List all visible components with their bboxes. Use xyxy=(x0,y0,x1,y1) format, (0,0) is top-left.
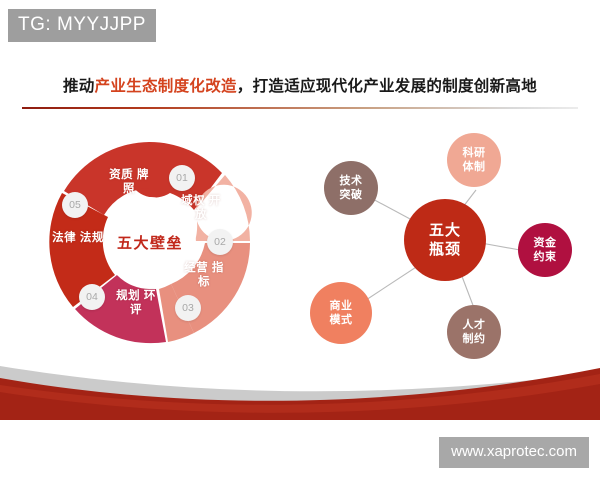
donut-label-01-line1: 资质 xyxy=(109,169,133,181)
node-talent-constraint-line2: 制约 xyxy=(463,332,486,346)
page-title-highlight: 产业生态制度化改造 xyxy=(95,78,237,95)
title-underline-rule xyxy=(22,107,578,109)
donut-label-04-line1: 规划 xyxy=(116,290,140,302)
donut-number-01[interactable]: 01 xyxy=(169,165,195,191)
donut-label-05-line1: 法律 xyxy=(52,232,76,244)
node-talent-constraint[interactable]: 人才 制约 xyxy=(447,305,501,359)
node-business-model[interactable]: 商业 模式 xyxy=(310,282,372,344)
node-center-line1: 五大 xyxy=(429,221,461,240)
node-research-system-line1: 科研 xyxy=(463,146,486,160)
donut-label-05: 法律 法规 xyxy=(52,231,104,245)
donut-number-05[interactable]: 05 xyxy=(62,192,88,218)
node-business-model-line1: 商业 xyxy=(330,299,353,313)
node-funding-constraint-line2: 约束 xyxy=(534,250,557,264)
donut-label-02-line1: 域权 xyxy=(181,195,205,207)
donut-label-04: 规划 环评 xyxy=(111,289,161,317)
five-bottlenecks-map: 技术 突破 科研 体制 资金 约束 人才 制约 商业 模式 五大 瓶颈 xyxy=(290,128,590,360)
site-watermark: www.xaprotec.com xyxy=(439,437,589,468)
node-funding-constraint[interactable]: 资金 约束 xyxy=(518,223,572,277)
node-technology-breakthrough[interactable]: 技术 突破 xyxy=(324,161,378,215)
node-research-system[interactable]: 科研 体制 xyxy=(447,133,501,187)
five-barriers-donut: 01 02 03 04 05 资质 牌照 域权 开放 经营 指标 规划 环评 法… xyxy=(35,132,265,354)
banner-svg xyxy=(0,358,600,420)
node-center-line2: 瓶颈 xyxy=(429,240,461,259)
node-research-system-line2: 体制 xyxy=(463,160,486,174)
node-technology-breakthrough-line2: 突破 xyxy=(340,188,363,202)
node-business-model-line2: 模式 xyxy=(330,313,353,327)
page-title-prefix: 推动 xyxy=(63,78,95,95)
donut-number-03[interactable]: 03 xyxy=(175,295,201,321)
node-center-five-bottlenecks[interactable]: 五大 瓶颈 xyxy=(404,199,486,281)
page-title: 推动产业生态制度化改造，打造适应现代化产业发展的制度创新高地 xyxy=(0,76,600,98)
donut-number-02[interactable]: 02 xyxy=(207,229,233,255)
node-technology-breakthrough-line1: 技术 xyxy=(340,174,363,188)
donut-label-01: 资质 牌照 xyxy=(104,168,154,196)
node-talent-constraint-line1: 人才 xyxy=(463,318,486,332)
page-title-suffix: ，打造适应现代化产业发展的制度创新高地 xyxy=(237,78,537,95)
slide-content: 01 02 03 04 05 资质 牌照 域权 开放 经营 指标 规划 环评 法… xyxy=(0,120,600,365)
node-funding-constraint-line1: 资金 xyxy=(534,236,557,250)
bottom-decorative-banner xyxy=(0,358,600,420)
top-watermark-tag: TG: MYYJJPP xyxy=(8,9,156,42)
page-title-container: 推动产业生态制度化改造，打造适应现代化产业发展的制度创新高地 xyxy=(0,76,600,98)
donut-center-label: 五大壁垒 xyxy=(98,218,202,270)
donut-number-04[interactable]: 04 xyxy=(79,284,105,310)
